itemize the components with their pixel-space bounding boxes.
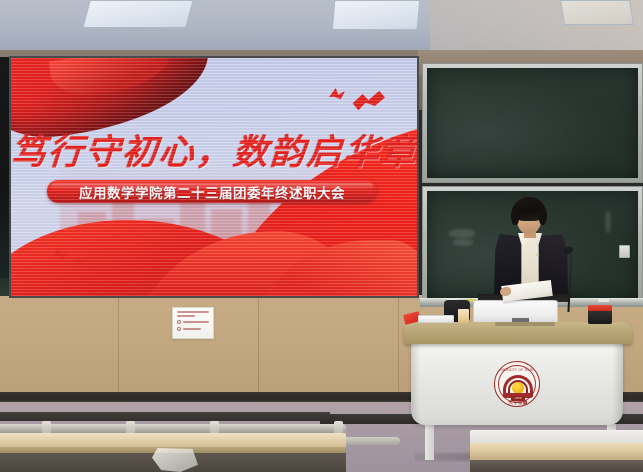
slide-subtitle-banner: 应用数学学院第二十三届团委年终述职大会 — [47, 180, 377, 203]
emblem-top-text: UNIVERSITY OF SCIENCE — [495, 368, 540, 372]
notice-bullet-icon-1 — [177, 320, 181, 324]
led-screen-frame: 笃行守初心，数韵启华章 应用数学学院第二十三届团委年终述职大会 — [9, 56, 419, 298]
emblem-bottom-text: 大学校徽 — [495, 400, 540, 406]
chalk-white-2[interactable] — [598, 299, 609, 302]
wall-seam-3 — [398, 297, 399, 397]
slide-subtitle-text: 应用数学学院第二十三届团委年终述职大会 — [79, 182, 345, 202]
podium-counter-notch — [495, 322, 555, 326]
paper-cup[interactable] — [458, 309, 469, 323]
blackboard-upper — [422, 63, 643, 183]
classroom-scene: 笃行守初心，数韵启华章 应用数学学院第二十三届团委年终述职大会 — [0, 0, 643, 472]
blackboard-upper-surface — [427, 68, 638, 178]
right-desk-underside — [470, 459, 643, 472]
ceiling-light-panel-2 — [332, 0, 421, 30]
lapel-pin-icon — [536, 253, 539, 256]
wall-notice-placard — [172, 307, 214, 339]
slide-headline: 笃行守初心，数韵启华章 — [11, 124, 417, 175]
dove-icon-large — [349, 90, 385, 112]
speaker-hair-right — [539, 206, 547, 225]
led-screen: 笃行守初心，数韵启华章 应用数学学院第二十三届团委年终述职大会 — [11, 58, 417, 296]
desk-rail-front — [0, 424, 346, 433]
ceiling-light-panel-3 — [560, 0, 634, 25]
floor-strip-left — [0, 412, 330, 421]
white-box-item[interactable] — [418, 315, 454, 323]
podium-leg-left — [425, 424, 434, 460]
right-desk-top — [470, 443, 643, 460]
wall-seam-1 — [118, 297, 119, 397]
university-emblem: UNIVERSITY OF SCIENCE 1958 大学校徽 — [494, 361, 540, 407]
black-device-top — [588, 305, 612, 311]
notice-bullet-icon-2 — [177, 327, 181, 331]
dove-icon-small — [329, 88, 345, 101]
right-desk-panel — [470, 430, 643, 444]
wall-seam-2 — [258, 297, 259, 397]
ceiling-light-panel-1 — [82, 0, 194, 28]
desk-rail-front-2 — [340, 437, 400, 445]
wall-socket[interactable] — [619, 245, 630, 258]
speaker-hair-left — [511, 206, 519, 225]
